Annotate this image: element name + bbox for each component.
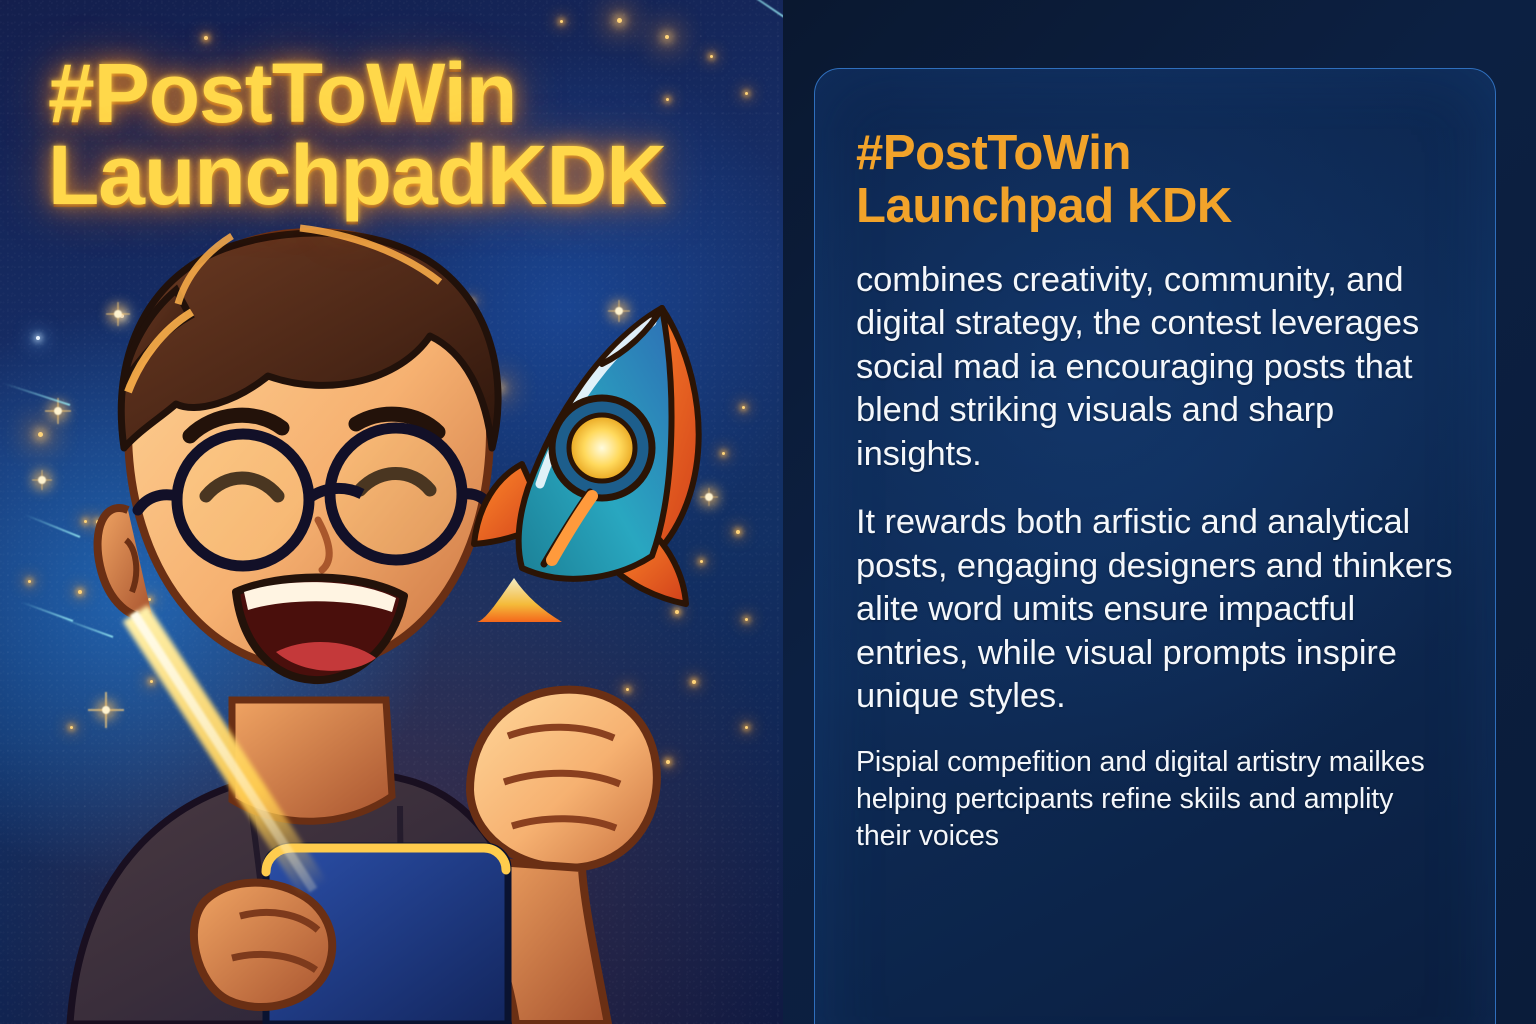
- illustration-panel: #PostToWin LaunchpadKDK: [0, 0, 783, 1024]
- card-paragraph-2: It rewards both arfistic and analytical …: [856, 501, 1455, 718]
- card-footnote: Pispial compefition and digital artistry…: [856, 744, 1455, 855]
- card-paragraph-1: combines creativity, community, and digi…: [856, 259, 1455, 476]
- artwork-headline: #PostToWin LaunchpadKDK: [48, 52, 748, 217]
- content-card: #PostToWin Launchpad KDK combines creati…: [814, 68, 1496, 1024]
- text-panel: #PostToWin Launchpad KDK combines creati…: [783, 0, 1536, 1024]
- poster-stage: #PostToWin LaunchpadKDK: [0, 0, 1536, 1024]
- card-title: #PostToWin Launchpad KDK: [856, 127, 1455, 233]
- rocket-illustration: [466, 292, 726, 622]
